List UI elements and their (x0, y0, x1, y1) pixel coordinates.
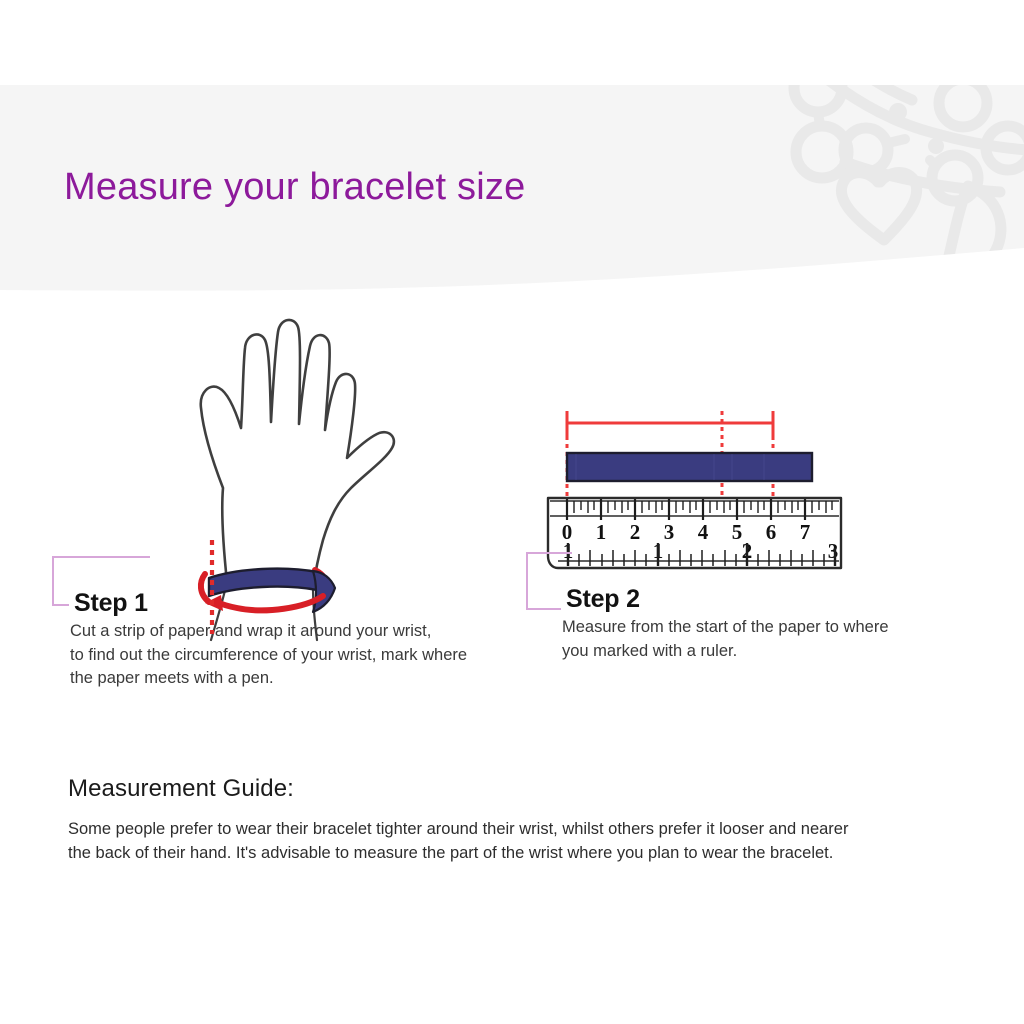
header-band (0, 0, 1024, 320)
step-1-label: Step 1 (69, 589, 154, 618)
step-1-description: Cut a strip of paper and wrap it around … (70, 620, 552, 691)
charm-bracelet-watermark (794, 30, 1024, 278)
step-2-description: Measure from the start of the paper to w… (562, 616, 986, 663)
measurement-bracket (567, 411, 773, 436)
step-2-block: Step 2 Measure from the start of the pap… (526, 552, 986, 680)
step-1-header: Step 1 (52, 556, 552, 618)
hand-outline-icon (201, 320, 394, 588)
svg-text:6: 6 (766, 520, 777, 544)
svg-text:2: 2 (630, 520, 641, 544)
svg-text:1: 1 (596, 520, 607, 544)
page-title: Measure your bracelet size (64, 166, 525, 209)
svg-text:3: 3 (664, 520, 675, 544)
step-2-label: Step 2 (561, 585, 646, 614)
measurement-guide-heading: Measurement Guide: (68, 775, 978, 803)
measurement-guide-section: Measurement Guide: Some people prefer to… (68, 775, 978, 865)
svg-text:5: 5 (732, 520, 743, 544)
heart-charm-icon (841, 173, 916, 240)
leaf-charm-icon (944, 186, 1001, 278)
paper-strip-flat (567, 453, 812, 481)
measurement-guide-text: Some people prefer to wear their bracele… (68, 817, 978, 865)
step-1-block: Step 1 Cut a strip of paper and wrap it … (52, 556, 552, 707)
svg-text:4: 4 (698, 520, 709, 544)
step-2-header: Step 2 (526, 552, 986, 614)
svg-text:7: 7 (800, 520, 811, 544)
